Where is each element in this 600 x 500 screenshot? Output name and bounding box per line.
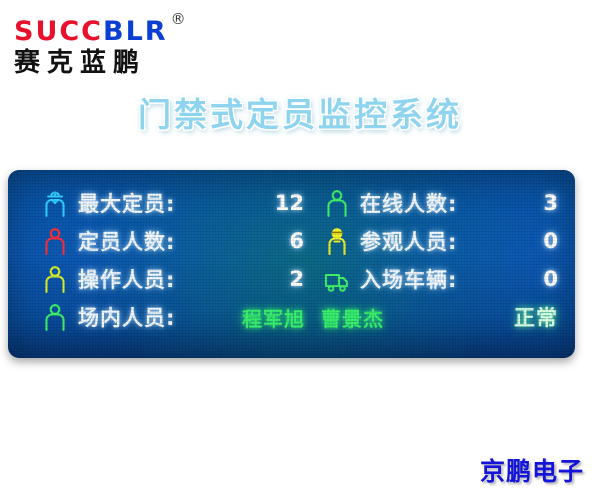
person-icon — [42, 264, 68, 294]
field-label: 在线人数: — [360, 188, 457, 218]
field-onsite-personnel: 场内人员: — [42, 298, 175, 336]
field-online-count: 在线人数: — [324, 184, 457, 222]
screen-root: SUCCBLR® 赛克蓝鹏 门禁式定员监控系统 最大定员: 12 — [0, 0, 600, 500]
field-label: 场内人员: — [78, 302, 175, 332]
page-title: 门禁式定员监控系统 — [0, 88, 600, 136]
field-value-max-capacity: 12 — [242, 184, 304, 222]
field-label: 最大定员: — [78, 188, 175, 218]
logo-latin-part-a: SUCC — [14, 16, 103, 47]
led-display-panel: 最大定员: 12 在线人数: 3 — [8, 170, 575, 358]
person-name: 程军旭 — [242, 303, 305, 332]
led-row: 定员人数: 6 参观人员: 0 — [24, 222, 559, 260]
footer-brand: 京鹏电子 — [480, 452, 584, 488]
field-max-capacity: 最大定员: — [42, 184, 175, 222]
person-icon — [42, 302, 68, 332]
field-label: 参观人员: — [360, 226, 457, 256]
status-badge: 正常 — [494, 298, 558, 336]
field-value-operator-count: 2 — [242, 260, 304, 298]
field-label: 定员人数: — [78, 226, 175, 256]
logo-chinese-wordmark: 赛克蓝鹏 — [14, 48, 183, 78]
led-row: 操作人员: 2 入场车辆: 0 — [24, 260, 559, 298]
field-value-vehicle-count: 0 — [494, 260, 558, 298]
logo-latin-part-b: BLR — [103, 16, 168, 47]
field-label: 入场车辆: — [360, 264, 457, 294]
field-visitor-count: 参观人员: — [324, 222, 457, 260]
person-name: 曹景杰 — [321, 303, 384, 332]
person-icon — [42, 226, 68, 256]
field-value-registered-count: 6 — [242, 222, 304, 260]
field-registered-count: 定员人数: — [42, 222, 175, 260]
led-row-onsite: 场内人员: 程军旭 曹景杰 正常 — [24, 298, 559, 336]
person-with-helmet-icon — [324, 226, 350, 256]
field-vehicle-count: 入场车辆: — [324, 260, 457, 298]
registered-trademark-icon: ® — [171, 10, 186, 28]
onsite-personnel-names: 程军旭 曹景杰 — [242, 298, 384, 336]
logo-latin-wordmark: SUCCBLR® — [14, 10, 183, 47]
company-logo: SUCCBLR® 赛克蓝鹏 — [14, 10, 183, 78]
led-row: 最大定员: 12 在线人数: 3 — [24, 184, 559, 222]
field-value-online-count: 3 — [494, 184, 558, 222]
field-label: 操作人员: — [78, 264, 175, 294]
field-value-visitor-count: 0 — [494, 222, 558, 260]
person-with-cap-icon — [42, 188, 68, 218]
person-icon — [324, 188, 350, 218]
truck-icon — [324, 264, 350, 294]
field-operator-count: 操作人员: — [42, 260, 175, 298]
